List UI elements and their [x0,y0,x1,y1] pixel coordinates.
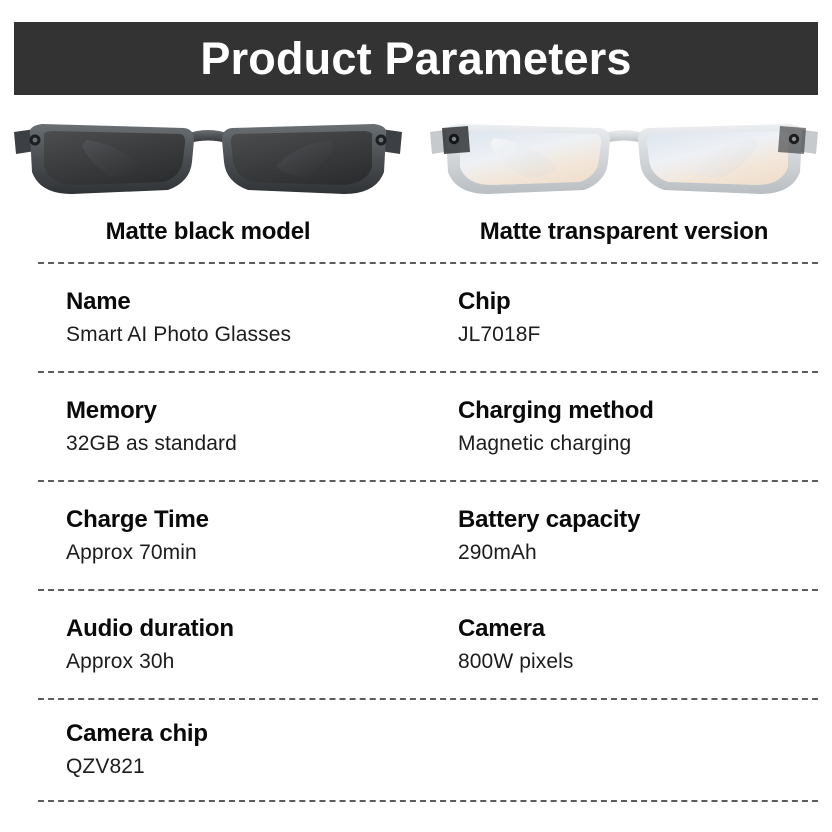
spec-value: 290mAh [458,539,832,566]
spec-cell-chip: Chip JL7018F [429,287,832,348]
spec-cell-audio-duration: Audio duration Approx 30h [0,614,429,675]
product-caption-black: Matte black model [106,218,311,246]
spec-label: Battery capacity [458,505,832,535]
spec-row: Audio duration Approx 30h Camera 800W pi… [0,591,832,698]
sunglasses-transparent-icon [424,110,824,210]
spec-value: Approx 30h [66,648,429,675]
spec-label: Charge Time [66,505,429,535]
spec-label: Chip [458,287,832,317]
page-header-banner: Product Parameters [14,22,818,95]
sunglasses-black-icon [8,110,408,210]
product-variant-black: Matte black model [0,108,416,258]
spec-cell-charge-time: Charge Time Approx 70min [0,505,429,566]
spec-value: JL7018F [458,321,832,348]
spec-value: 32GB as standard [66,430,429,457]
spec-cell-charging-method: Charging method Magnetic charging [429,396,832,457]
spec-label: Memory [66,396,429,426]
spec-row: Memory 32GB as standard Charging method … [0,373,832,480]
spec-label: Camera [458,614,832,644]
spec-label: Camera chip [66,719,429,749]
spec-cell-memory: Memory 32GB as standard [0,396,429,457]
spec-cell-name: Name Smart AI Photo Glasses [0,287,429,348]
spec-cell-battery-capacity: Battery capacity 290mAh [429,505,832,566]
product-showcase: Matte black model [0,108,832,258]
specifications-table: Name Smart AI Photo Glasses Chip JL7018F… [0,262,832,802]
spec-cell-camera-chip: Camera chip QZV821 [0,719,429,780]
spec-value: Approx 70min [66,539,429,566]
spec-row: Charge Time Approx 70min Battery capacit… [0,482,832,589]
spec-value: QZV821 [66,753,429,780]
product-variant-transparent: Matte transparent version [416,108,832,258]
spec-row: Camera chip QZV821 [0,700,832,800]
spec-row: Name Smart AI Photo Glasses Chip JL7018F [0,264,832,371]
spec-label: Name [66,287,429,317]
page-title: Product Parameters [200,36,631,81]
spec-label: Charging method [458,396,832,426]
row-divider [38,800,818,802]
spec-cell-camera: Camera 800W pixels [429,614,832,675]
spec-label: Audio duration [66,614,429,644]
product-caption-transparent: Matte transparent version [480,218,768,246]
spec-value: 800W pixels [458,648,832,675]
spec-value: Smart AI Photo Glasses [66,321,429,348]
spec-value: Magnetic charging [458,430,832,457]
